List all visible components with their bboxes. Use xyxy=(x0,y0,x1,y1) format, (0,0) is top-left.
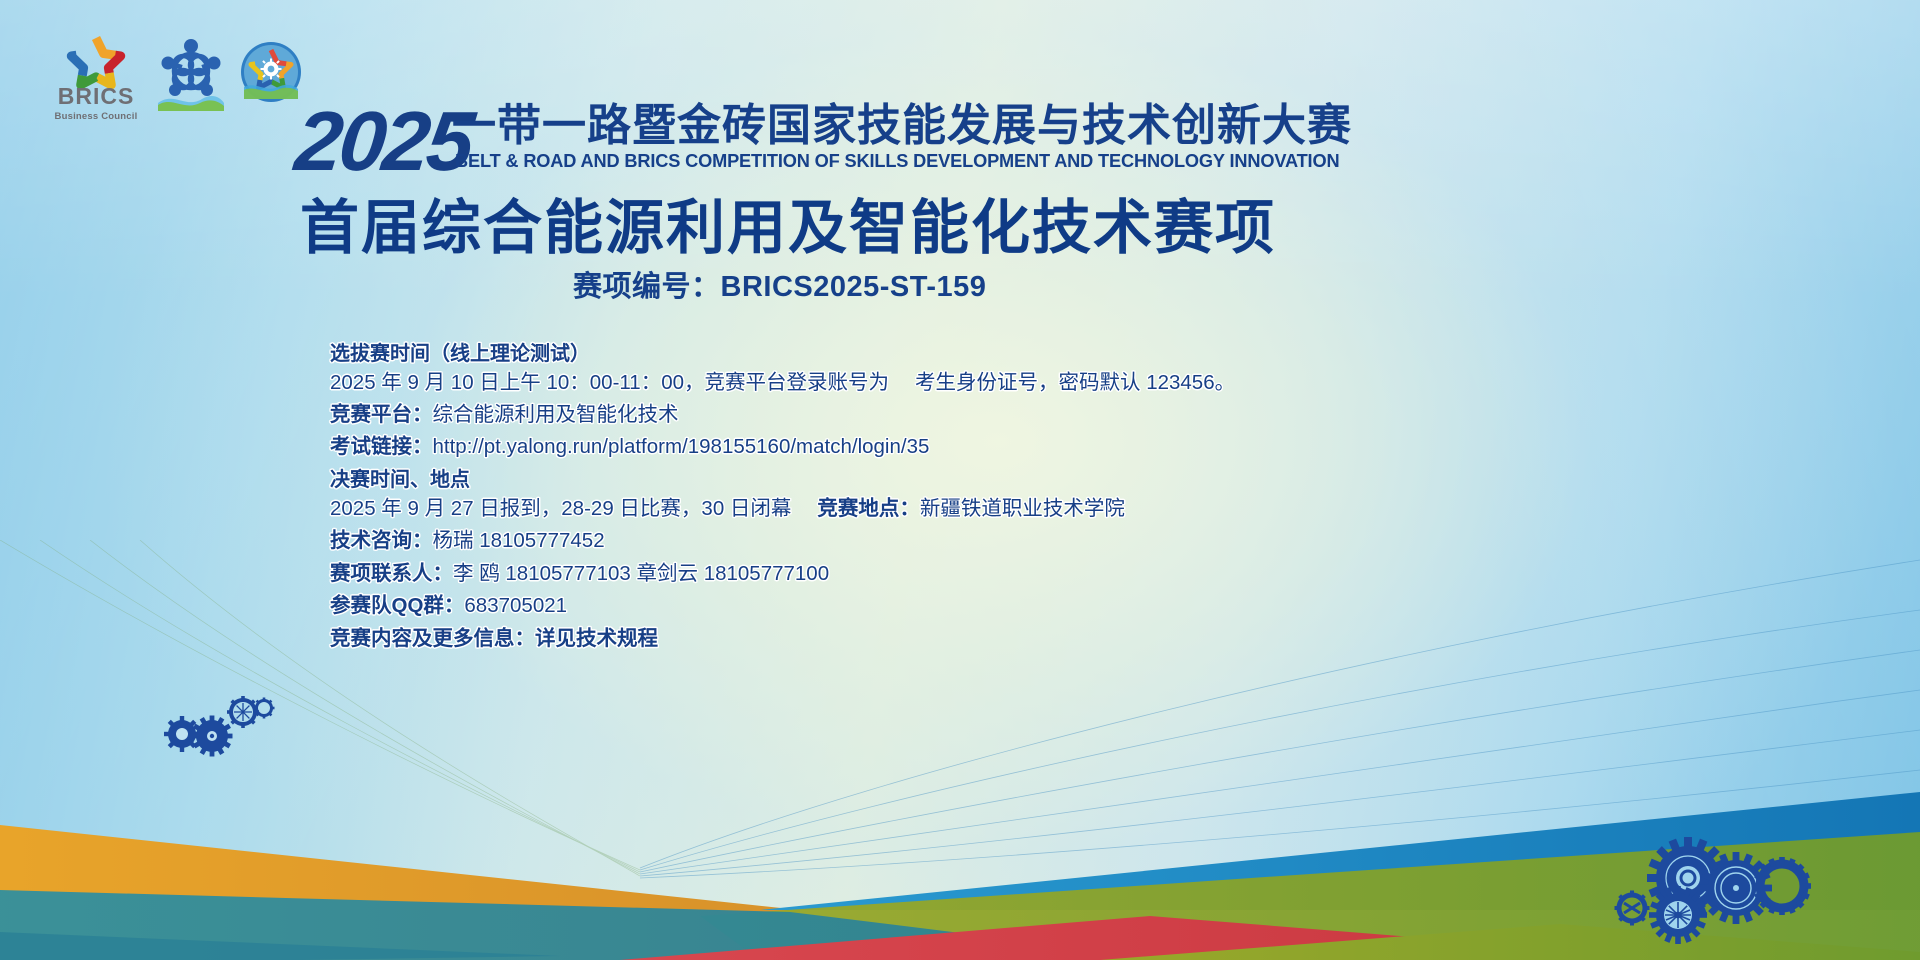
tech-support-value: 杨瑞 18105777452 xyxy=(433,529,605,552)
more-info-label: 竞赛内容及更多信息： xyxy=(330,627,535,650)
qq-group-row: 参赛队QQ群：683705021 xyxy=(330,596,1630,617)
event-code: 赛项编号：BRICS2025-ST-159 xyxy=(573,273,986,302)
selection-heading: 选拔赛时间（线上理论测试） xyxy=(330,344,1630,364)
contact-row: 赛项联系人：李 鸥 18105777103 章剑云 18105777100 xyxy=(330,564,1630,585)
bottom-ribbon-decoration xyxy=(0,720,1920,960)
more-info-value: 详见技术规程 xyxy=(535,627,658,650)
exam-link-label: 考试链接： xyxy=(330,435,433,458)
final-heading: 决赛时间、地点 xyxy=(330,470,1630,490)
gear-cluster-right-icon xyxy=(1590,830,1880,950)
contact-label: 赛项联系人： xyxy=(330,562,453,585)
selection-time-text: 2025 年 9 月 10 日上午 10：00-11：00，竞赛平台登录账号为 xyxy=(330,371,889,394)
competition-emblem-logo xyxy=(240,41,302,103)
logo-group: BRICS Business Council xyxy=(50,33,302,121)
belt-road-network-logo xyxy=(156,33,226,113)
platform-label: 竞赛平台： xyxy=(330,403,433,426)
contact-value: 李 鸥 18105777103 章剑云 18105777100 xyxy=(453,562,829,585)
poster-canvas: BRICS Business Council xyxy=(0,0,1920,960)
brics-business-council-logo: BRICS Business Council xyxy=(50,33,142,121)
details-block: 选拔赛时间（线上理论测试） 2025 年 9 月 10 日上午 10：00-11… xyxy=(330,344,1630,660)
qq-group-label: 参赛队QQ群： xyxy=(330,594,464,617)
exam-link-row[interactable]: 考试链接：http://pt.yalong.run/platform/19815… xyxy=(330,437,1630,458)
brics-logo-word: BRICS xyxy=(50,85,142,108)
selection-time-row: 2025 年 9 月 10 日上午 10：00-11：00，竞赛平台登录账号为考… xyxy=(330,373,1630,394)
platform-value: 综合能源利用及智能化技术 xyxy=(433,403,679,426)
more-info-row: 竞赛内容及更多信息：详见技术规程 xyxy=(330,629,1630,650)
venue-label: 竞赛地点： xyxy=(817,497,920,520)
tech-support-row: 技术咨询：杨瑞 18105777452 xyxy=(330,531,1630,552)
brics-logo-subtitle: Business Council xyxy=(50,112,142,122)
event-title: 首届综合能源利用及智能化技术赛项 xyxy=(300,196,1276,261)
tech-support-label: 技术咨询： xyxy=(330,529,433,552)
selection-time-text-2: 考生身份证号，密码默认 123456。 xyxy=(915,371,1235,394)
final-time-row: 2025 年 9 月 27 日报到，28-29 日比赛，30 日闭幕竞赛地点：新… xyxy=(330,499,1630,520)
qq-group-value: 683705021 xyxy=(464,594,567,617)
competition-title-en: BELT & ROAD AND BRICS COMPETITION OF SKI… xyxy=(455,152,1339,170)
competition-title-cn: 一带一路暨金砖国家技能发展与技术创新大赛 xyxy=(452,104,1352,148)
year-label: 2025 xyxy=(292,99,476,183)
exam-link-url[interactable]: http://pt.yalong.run/platform/198155160/… xyxy=(433,435,930,458)
gear-cluster-left-icon xyxy=(160,690,280,760)
final-time-value: 2025 年 9 月 27 日报到，28-29 日比赛，30 日闭幕 xyxy=(330,497,791,520)
venue-value: 新疆铁道职业技术学院 xyxy=(920,497,1125,520)
platform-row: 竞赛平台：综合能源利用及智能化技术 xyxy=(330,405,1630,426)
